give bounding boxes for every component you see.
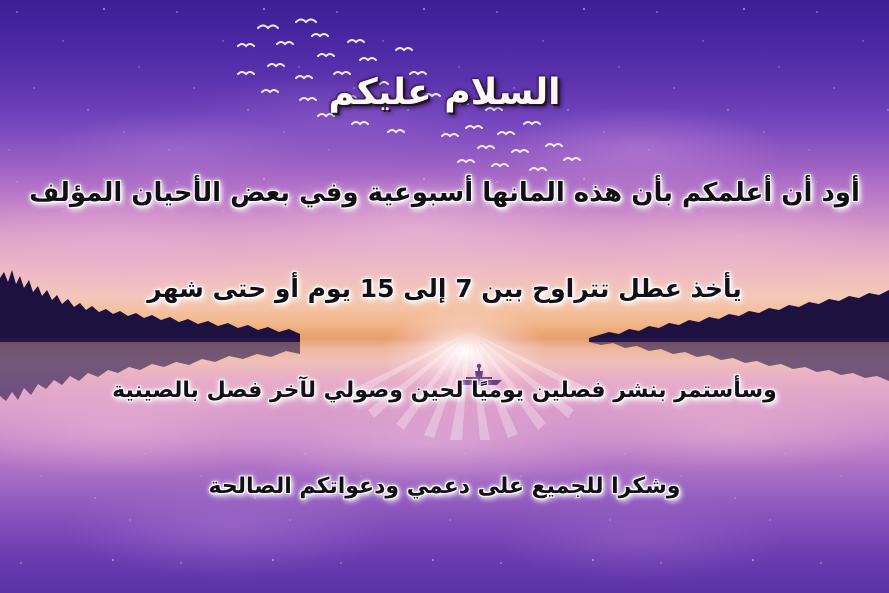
message-line-2: يأخذ عطل تتراوح بين 7 إلى 15 يوم أو حتى … (0, 274, 889, 303)
message-text-layer: السلام عليكم أود أن أعلمكم بأن هذه المان… (0, 0, 889, 593)
message-line-3: وسأستمر بنشر فصلين يوميًا لحين وصولي لآخ… (0, 378, 889, 403)
announcement-image: السلام عليكم أود أن أعلمكم بأن هذه المان… (0, 0, 889, 593)
message-line-4: وشكرا للجميع على دعمي ودعواتكم الصالحة (0, 474, 889, 499)
message-line-1: أود أن أعلمكم بأن هذه المانها أسبوعية وف… (0, 178, 889, 208)
greeting-title: السلام عليكم (0, 72, 889, 113)
